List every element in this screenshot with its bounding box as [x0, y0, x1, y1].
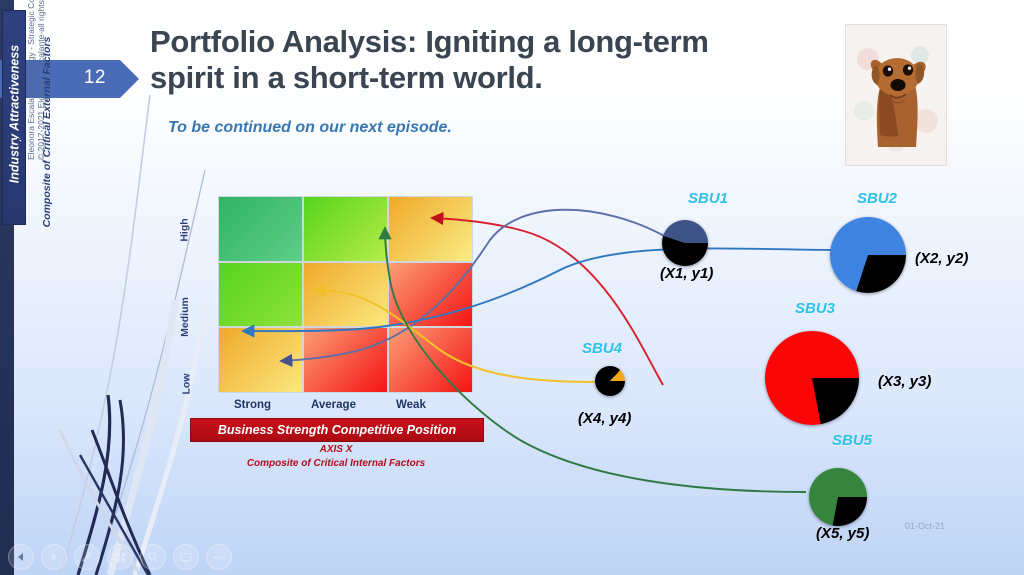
date-stamp: 01-Oct-21 — [905, 521, 945, 531]
sbu-pie-sbu5 — [809, 468, 867, 526]
matrix-cell-weak-low — [389, 328, 472, 392]
zoom-tool-button[interactable] — [140, 544, 166, 570]
ellipsis-icon — [213, 555, 226, 560]
y-tick-low: Low — [181, 374, 193, 395]
more-options-button[interactable] — [206, 544, 232, 570]
sbu-label-sbu4: SBU4 — [582, 340, 622, 357]
presentation-toolbar[interactable] — [8, 543, 232, 571]
screen-icon — [180, 552, 192, 563]
matrix-cell-strong-low — [219, 328, 302, 392]
presenter-view-button[interactable] — [173, 544, 199, 570]
previous-slide-button[interactable] — [8, 544, 34, 570]
sbu-coord-sbu1: (X1, y1) — [660, 265, 713, 282]
slide-thumbnails-button[interactable] — [107, 544, 133, 570]
matrix-cell-average-high — [304, 197, 387, 261]
slide-canvas: 12 Portfolio Analysis: Igniting a long-t… — [0, 0, 1024, 575]
x-axis-subtitle-group: AXIS X Composite of Critical Internal Fa… — [190, 443, 482, 470]
next-slide-button[interactable] — [41, 544, 67, 570]
x-axis-name: AXIS X — [320, 444, 353, 455]
y-axis-name: AXIS Y — [16, 122, 27, 155]
matrix-cell-weak-high — [389, 197, 472, 261]
x-axis-title: Business Strength Competitive Position — [191, 419, 483, 441]
triangle-right-icon — [49, 552, 59, 562]
x-tick-strong: Strong — [234, 399, 271, 411]
sbu-coord-sbu5: (X5, y5) — [816, 525, 869, 542]
sbu-label-sbu2: SBU2 — [857, 190, 897, 207]
sbu-label-sbu3: SBU3 — [795, 300, 835, 317]
y-axis-subtitle-group: AXIS Y Composite of Critical External Fa… — [38, 18, 58, 233]
matrix-cell-average-low — [304, 328, 387, 392]
matrix-cell-strong-medium — [219, 263, 302, 327]
y-tick-high: High — [179, 218, 191, 241]
dog-portrait-image — [845, 24, 947, 166]
sbu-pie-sbu3 — [765, 331, 859, 425]
y-axis-title-box: Industry Attractiveness — [2, 10, 26, 225]
x-tick-weak: Weak — [396, 399, 426, 411]
triangle-left-icon — [16, 552, 26, 562]
y-tick-medium: Medium — [179, 297, 191, 337]
x-tick-average: Average — [311, 399, 356, 411]
sbu-coord-sbu2: (X2, y2) — [915, 250, 968, 267]
sbu-label-sbu1: SBU1 — [688, 190, 728, 207]
sbu-label-sbu5: SBU5 — [832, 432, 872, 449]
x-axis-subtitle: Composite of Critical Internal Factors — [247, 458, 425, 469]
x-axis-title-box: Business Strength Competitive Position — [190, 418, 484, 442]
matrix-cell-average-medium — [304, 263, 387, 327]
sbu-pie-sbu1 — [662, 220, 708, 266]
pen-icon — [81, 551, 93, 563]
grid-icon — [115, 552, 126, 563]
banner-arrow-tip — [120, 60, 139, 98]
page-title: Portfolio Analysis: Igniting a long-term… — [150, 24, 750, 96]
sbu-coord-sbu3: (X3, y3) — [878, 373, 931, 390]
pen-tool-button[interactable] — [74, 544, 100, 570]
portfolio-matrix-grid — [218, 196, 473, 393]
sbu-pie-sbu4 — [595, 366, 625, 396]
copyright-line-1: Eleonora Escalante Strategy - Strategic … — [26, 0, 36, 160]
magnifier-icon — [147, 551, 159, 563]
sbu-pie-sbu2 — [830, 217, 906, 293]
matrix-cell-strong-high — [219, 197, 302, 261]
matrix-cell-weak-medium — [389, 263, 472, 327]
page-number: 12 — [84, 67, 106, 89]
y-axis-title: Industry Attractiveness — [8, 7, 22, 222]
page-subtitle: To be continued on our next episode. — [168, 119, 728, 137]
y-axis-subtitle: Composite of Critical External Factors — [41, 32, 53, 232]
sbu-coord-sbu4: (X4, y4) — [578, 410, 631, 427]
